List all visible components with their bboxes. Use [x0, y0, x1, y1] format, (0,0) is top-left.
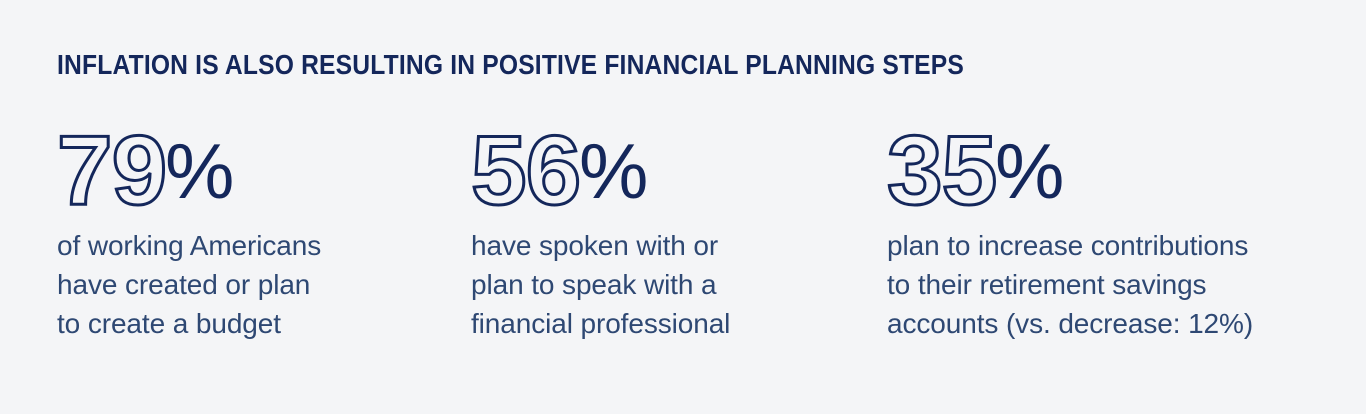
stat-description-2: have spoken with or plan to speak with a… [471, 226, 871, 343]
stat-description-line: to create a budget [57, 304, 457, 343]
stat-number-1: 79 [57, 120, 166, 220]
stat-description-line: accounts (vs. decrease: 12%) [887, 304, 1327, 343]
stat-description-line: have created or plan [57, 265, 457, 304]
stat-description-line: plan to increase contributions [887, 226, 1327, 265]
stat-description-line: plan to speak with a [471, 265, 871, 304]
percent-symbol-2: % [579, 121, 648, 221]
stat-description-1: of working Americans have created or pla… [57, 226, 457, 343]
stat-figure-3: 35% [887, 120, 1327, 220]
stat-card-1: 79% of working Americans have created or… [57, 120, 457, 343]
stat-description-line: financial professional [471, 304, 871, 343]
stat-card-3: 35% plan to increase contributions to th… [887, 120, 1327, 343]
stat-description-line: have spoken with or [471, 226, 871, 265]
infographic-root: INFLATION IS ALSO RESULTING IN POSITIVE … [0, 0, 1366, 414]
stat-columns: 79% of working Americans have created or… [0, 120, 1366, 370]
stat-figure-2: 56% [471, 120, 871, 220]
stat-number-2: 56 [471, 120, 580, 220]
stat-description-line: of working Americans [57, 226, 457, 265]
page-title: INFLATION IS ALSO RESULTING IN POSITIVE … [57, 50, 964, 80]
percent-symbol-3: % [995, 121, 1064, 221]
stat-number-3: 35 [887, 120, 996, 220]
percent-symbol-1: % [165, 121, 234, 221]
stat-card-2: 56% have spoken with or plan to speak wi… [471, 120, 871, 343]
stat-description-3: plan to increase contributions to their … [887, 226, 1327, 343]
stat-description-line: to their retirement savings [887, 265, 1327, 304]
stat-figure-1: 79% [57, 120, 457, 220]
